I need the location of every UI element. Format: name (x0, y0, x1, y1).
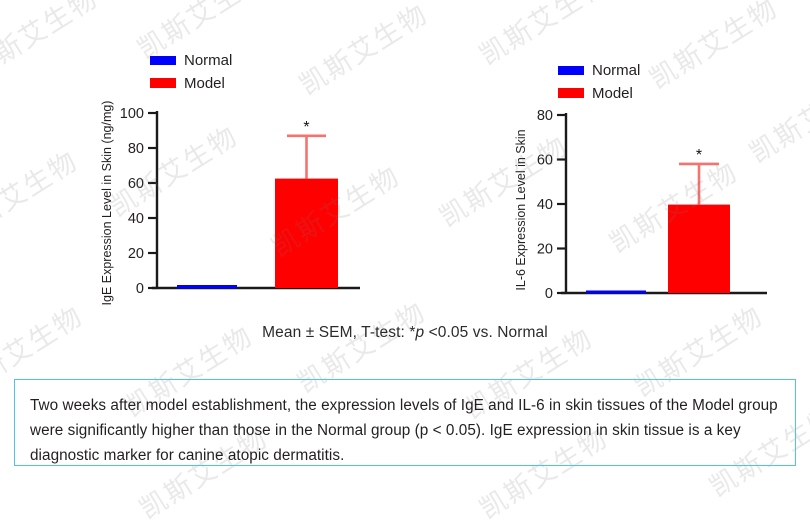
ytick-label: 20 (537, 242, 553, 258)
conclusion-text: Two weeks after model establishment, the… (30, 393, 781, 468)
stats-caption-suffix: <0.05 vs. Normal (424, 324, 548, 341)
bar-normal (177, 285, 237, 289)
chart-il6-ylabel: IL-6 Expression Level in Skin (514, 129, 528, 290)
legend-label-normal: Normal (184, 52, 232, 69)
legend-swatch-normal (150, 56, 176, 65)
ytick-label: 60 (537, 153, 553, 169)
chart-il6-ytick-labels: 80 60 40 20 0 (537, 108, 553, 302)
ytick-label: 60 (128, 176, 144, 192)
stats-caption-italic-p: p (415, 324, 424, 341)
chart-ige-legend: Normal Model (150, 52, 232, 92)
legend-label-model: Model (592, 85, 633, 102)
chart-il6-svg: Normal Model IL-6 Expression Level in Sk… (510, 0, 790, 318)
significance-asterisk: * (303, 119, 309, 136)
bar-model (668, 205, 730, 293)
ytick-label: 0 (545, 286, 553, 302)
chart-ige-ytick-labels: 100 80 60 40 20 0 (120, 106, 144, 297)
legend-label-normal: Normal (592, 62, 640, 79)
ytick-label: 0 (136, 281, 144, 297)
legend-swatch-model (558, 88, 584, 98)
bar-model (275, 179, 338, 288)
stats-caption-prefix: Mean ± SEM, T-test: * (262, 324, 415, 341)
bar-normal (586, 291, 646, 294)
chart-ige: Normal Model IgE Expression Level in Ski… (95, 0, 385, 318)
charts-row: Normal Model IgE Expression Level in Ski… (0, 0, 810, 318)
chart-ige-svg: Normal Model IgE Expression Level in Ski… (95, 0, 385, 318)
chart-il6-yticks (557, 115, 566, 293)
ytick-label: 40 (537, 197, 553, 213)
ytick-label: 80 (537, 108, 553, 124)
errorbar-model (287, 136, 326, 179)
chart-ige-yticks (148, 113, 157, 288)
chart-il6-legend: Normal Model (558, 62, 640, 102)
significance-asterisk: * (696, 147, 702, 164)
chart-ige-ylabel: IgE Expression Level in Skin (ng/mg) (100, 101, 114, 306)
chart-il6: Normal Model IL-6 Expression Level in Sk… (510, 0, 790, 318)
ytick-label: 80 (128, 141, 144, 157)
errorbar-model (679, 164, 719, 205)
legend-label-model: Model (184, 75, 225, 92)
stats-caption: Mean ± SEM, T-test: *p <0.05 vs. Normal (0, 324, 810, 342)
ytick-label: 100 (120, 106, 144, 122)
ytick-label: 20 (128, 246, 144, 262)
ytick-label: 40 (128, 211, 144, 227)
conclusion-box: Two weeks after model establishment, the… (14, 379, 796, 466)
legend-swatch-model (150, 78, 176, 88)
legend-swatch-normal (558, 66, 584, 75)
